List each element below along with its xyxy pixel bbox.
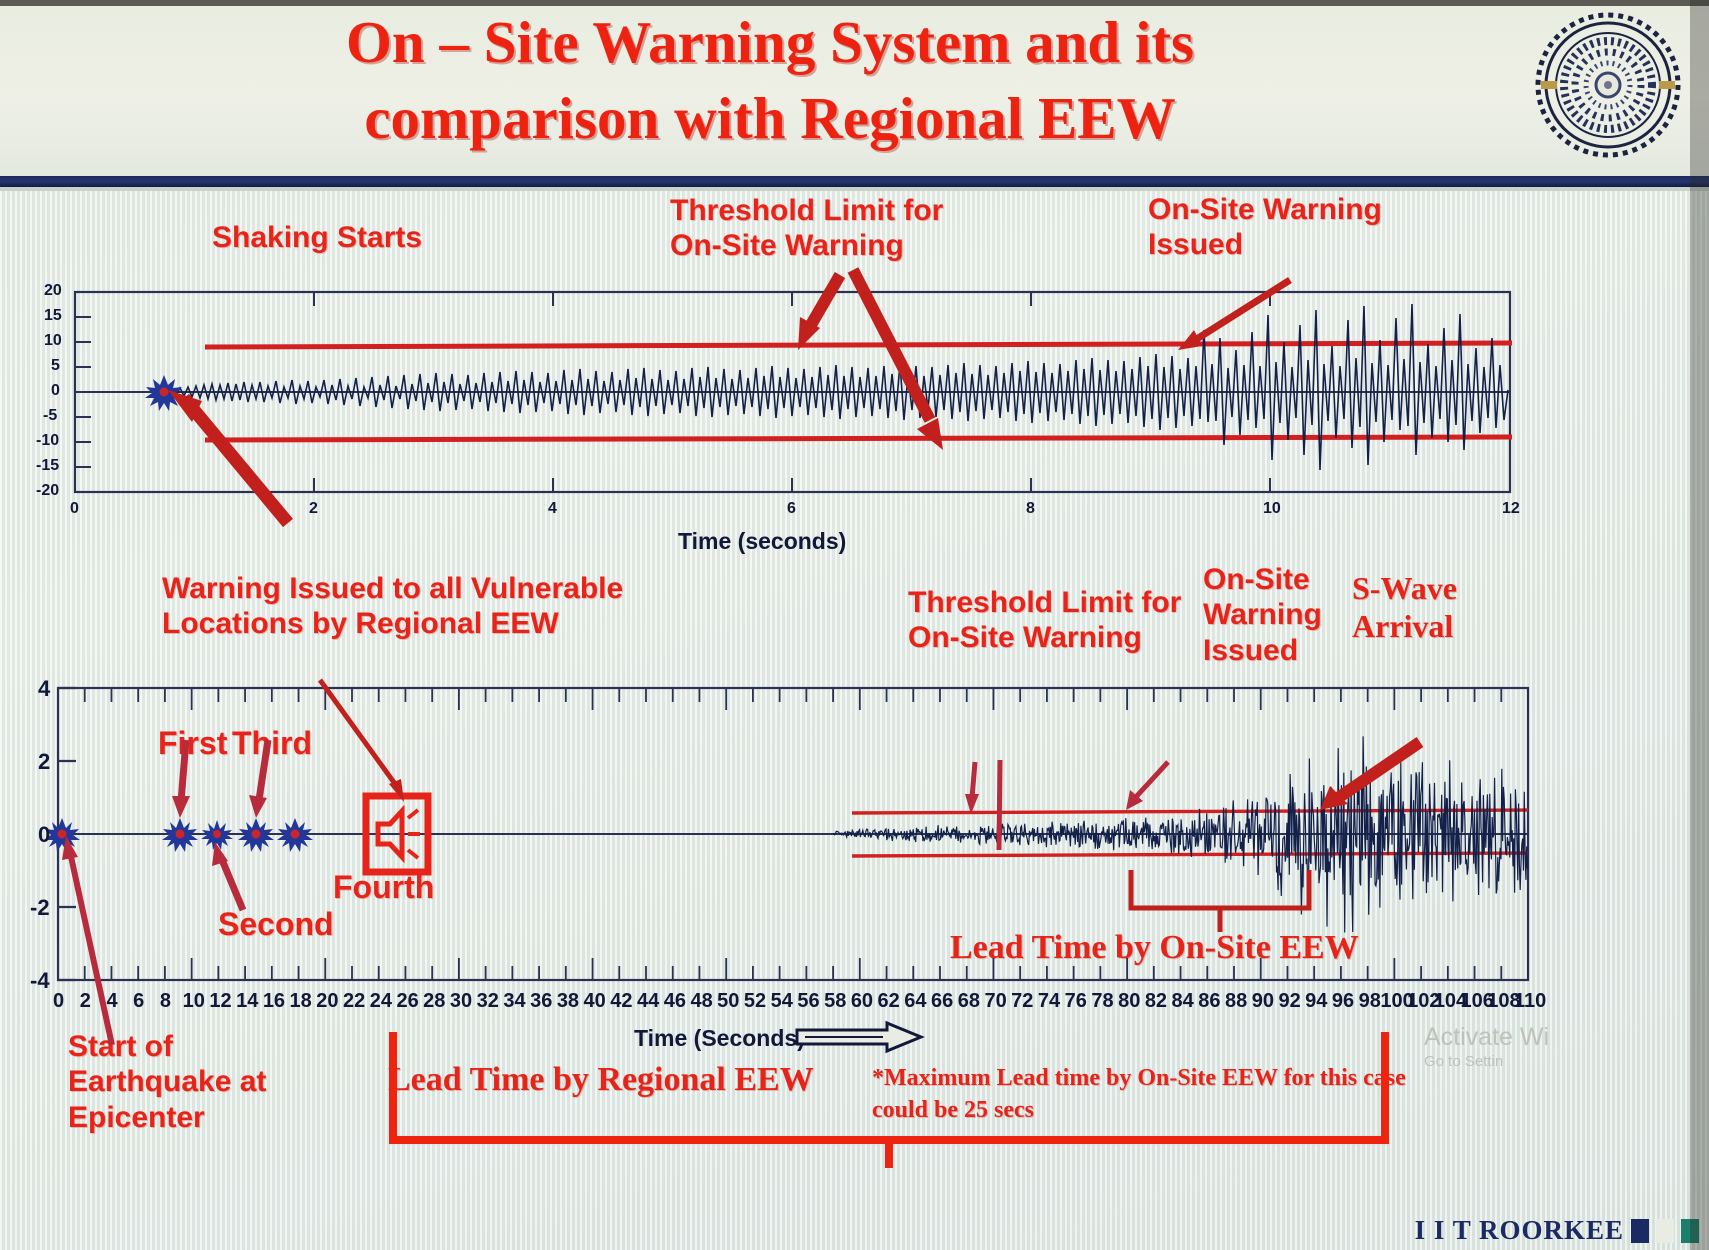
annotation-threshold-limit-bottom: Threshold Limit for On-Site Warning [908,585,1181,656]
arrow-third [249,740,268,818]
top-ytick-10: 10 [44,332,62,350]
annotation-threshold-limit-top: Threshold Limit for On-Site Warning [670,193,943,264]
top-xtick-2: 2 [309,500,318,518]
arrow-threshold-bottom [853,270,943,450]
bottom-chart-axes [58,688,1528,980]
bottom-waveform [833,736,1527,932]
top-xaxis-title: Time (seconds) [678,528,846,555]
page-title-line1: On – Site Warning System and its [140,4,1400,80]
top-ytick-20: 20 [44,282,62,300]
arrow-threshold-top [798,275,840,350]
bottom-ytick-0: 0 [38,822,50,848]
photo-edge-right [1690,0,1709,1250]
arrow-onsite-warning-bottom [1126,762,1168,810]
footer-square-light [1656,1219,1674,1243]
bottom-ytick-m2: -2 [30,895,50,921]
annotation-onsite-warning-issued-top: On-Site Warning Issued [1148,192,1382,263]
top-waveform [168,304,1508,470]
page-title: On – Site Warning System and its compari… [140,4,1400,156]
bracket-lead-time-onsite [1131,870,1309,932]
arrow-shaking-starts [168,390,288,523]
top-xtick-12: 12 [1502,500,1520,518]
arrow-first [172,740,190,818]
top-ytick-15: 15 [44,307,62,325]
arrow-second [212,842,243,910]
iit-roorkee-emblem-icon [1533,10,1683,160]
top-ytick-m15: -15 [36,457,59,475]
top-xtick-10: 10 [1263,500,1281,518]
photo-edge-top [0,0,1709,6]
watermark-line-2: Go to Settin [1424,1053,1549,1072]
top-ytick-m10: -10 [36,432,59,450]
top-ytick-5: 5 [51,357,60,375]
chart-top-accelerogram: 20 15 10 5 0 -5 -10 -15 -20 0 2 4 6 8 10… [0,270,1709,570]
footer-brand-text: I I T ROORKEE [1415,1215,1624,1246]
bottom-ytick-2: 2 [38,749,50,775]
slide-canvas: On – Site Warning System and its compari… [0,0,1709,1250]
top-ytick-0: 0 [51,382,60,400]
arrow-regional-warning [320,680,404,802]
arrow-onsite-warning-top [1178,280,1290,350]
bottom-ytick-4: 4 [38,676,50,702]
annotation-shaking-starts: Shaking Starts [212,220,422,255]
header-divider [0,176,1709,187]
watermark-line-1: Activate Wi [1424,1022,1549,1053]
annotation-warning-issued-regional: Warning Issued to all Vulnerable Locatio… [162,571,623,642]
top-xtick-8: 8 [1026,500,1035,518]
footer-brand: I I T ROORKEE [1415,1215,1699,1246]
footer-square-navy [1631,1219,1649,1243]
header-divider-secondary [0,187,1709,191]
slide-header: On – Site Warning System and its compari… [0,0,1709,176]
top-ytick-m5: -5 [43,407,57,425]
page-title-line2: comparison with Regional EEW [140,80,1400,156]
windows-activation-watermark: Activate Wi Go to Settin [1424,1022,1549,1072]
top-xtick-4: 4 [548,500,557,518]
top-xtick-6: 6 [787,500,796,518]
top-xtick-0: 0 [70,500,79,518]
annotation-s-wave-arrival: S-Wave Arrival [1352,570,1457,646]
annotation-onsite-warning-issued-bottom: On-Site Warning Issued [1203,562,1322,668]
top-ytick-m20: -20 [36,482,59,500]
